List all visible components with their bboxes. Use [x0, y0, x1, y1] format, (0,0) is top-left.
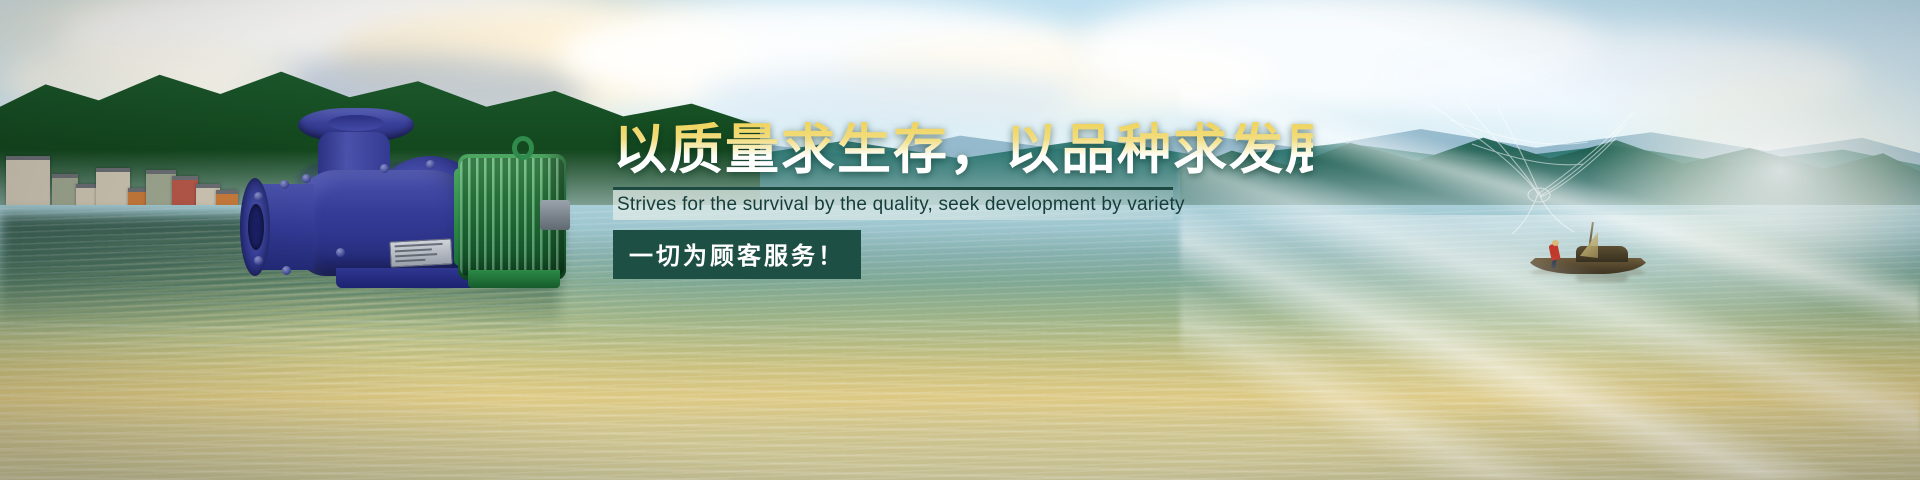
fishing-net-icon [1420, 98, 1660, 238]
centrifugal-pump-product [240, 108, 580, 283]
banner-text-block: 以质量求生存，以品种求发展 Strives for the survival b… [613, 122, 1313, 279]
hero-banner: 以质量求生存，以品种求发展 Strives for the survival b… [0, 0, 1920, 480]
banner-subtitle-bar: Strives for the survival by the quality,… [613, 187, 1173, 220]
motor-foot [468, 270, 560, 288]
cloud-shape [700, 70, 1080, 125]
banner-headline: 以质量求生存，以品种求发展 [613, 122, 1313, 178]
banner-subtitle: Strives for the survival by the quality,… [617, 194, 1185, 216]
motor-lifting-eye [512, 136, 534, 160]
motor-terminal-box [540, 200, 570, 230]
banner-service-badge: 一切为顾客服务！ [613, 230, 861, 279]
riverside-village [0, 132, 240, 214]
fishing-boat [1528, 232, 1648, 280]
fisherman-head [1552, 240, 1559, 246]
pump-nameplate [389, 238, 452, 267]
